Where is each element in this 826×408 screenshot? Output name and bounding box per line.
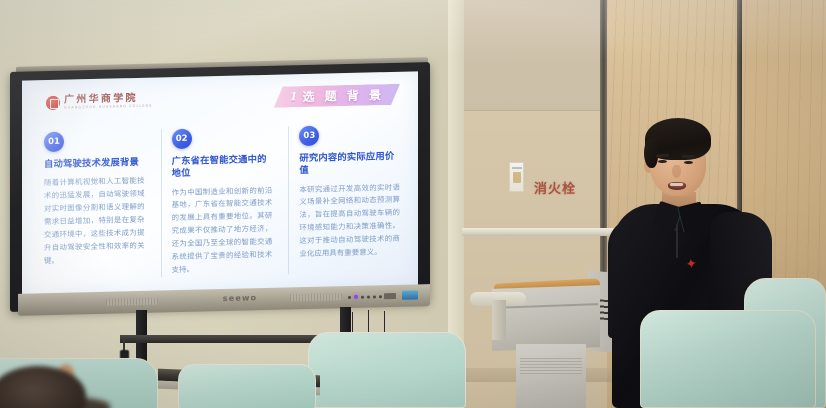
seewo-brand-label: seewo (210, 293, 270, 303)
section-number: 1 (290, 90, 298, 103)
slide-column: 02 广东省在智能交通中的地位 作为中国制造业和创新的前沿基地，广东省在智能交通… (161, 127, 277, 278)
classroom-scene: 消火栓 广州华商学院 GUANGZHOU HUASHANG COLLEGE 1 (0, 0, 826, 408)
slide-columns: 01 自动驾驶技术发展背景 随着计算机视觉和人工智能技术的迅猛发展，自动驾驶领域… (44, 124, 404, 281)
speaker-grille-left (106, 298, 158, 306)
logo-name-en: GUANGZHOU HUASHANG COLLEGE (64, 105, 153, 110)
speaker-grille-right (290, 293, 342, 301)
logo-seal-icon (46, 96, 60, 110)
podium-base (516, 344, 586, 408)
display-screen[interactable]: 广州华商学院 GUANGZHOU HUASHANG COLLEGE 1 选 题 … (22, 71, 418, 296)
fire-safety-sign (509, 162, 524, 192)
slide-column: 03 研究内容的实际应用价值 本研究通过开发高效的实时语义场景补全网络和动态预测… (288, 124, 404, 275)
chair-back (308, 332, 466, 408)
presenter-shirt-placket (676, 224, 678, 258)
presenter-nose (672, 165, 681, 178)
column-badge: 02 (172, 129, 192, 149)
column-badge: 03 (299, 126, 319, 146)
column-title: 研究内容的实际应用价值 (299, 151, 400, 178)
presenter-hair-side (644, 138, 658, 168)
university-logo: 广州华商学院 GUANGZHOU HUASHANG COLLEGE (46, 94, 153, 111)
presenter-teeth (670, 183, 683, 186)
slide-section-banner: 1 选 题 背 景 (274, 84, 400, 108)
section-title: 选 题 背 景 (302, 86, 384, 105)
wall-rail (462, 228, 618, 236)
logo-wordmark: 广州华商学院 GUANGZHOU HUASHANG COLLEGE (64, 94, 153, 110)
usb-port[interactable] (384, 293, 396, 299)
column-title: 自动驾驶技术发展背景 (44, 157, 145, 172)
column-body: 随着计算机视觉和人工智能技术的迅猛发展，自动驾驶领域对实时图像分割和语义理解的需… (44, 175, 145, 268)
display-control-buttons[interactable] (348, 294, 388, 299)
chair-back (640, 310, 816, 408)
hdmi-port[interactable] (402, 290, 418, 299)
control-dot[interactable] (348, 296, 351, 299)
column-body: 作为中国制造业和创新的前沿基地，广东省在智能交通技术的发展上具有重要地位。其研究… (172, 184, 273, 277)
chair-frame (492, 300, 506, 340)
control-dot[interactable] (361, 295, 364, 298)
podium-base-vent (520, 358, 582, 374)
control-dot[interactable] (373, 295, 376, 298)
column-badge: 01 (44, 132, 64, 152)
slide-column: 01 自动驾驶技术发展背景 随着计算机视觉和人工智能技术的迅猛发展，自动驾驶领域… (44, 130, 149, 281)
seewo-interactive-display[interactable]: 广州华商学院 GUANGZHOU HUASHANG COLLEGE 1 选 题 … (10, 67, 430, 315)
column-title: 广东省在智能交通中的地位 (172, 154, 273, 181)
column-body: 本研究通过开发高效的实时语义场景补全网络和动态预测算法，旨在提高自动驾驶车辆的环… (299, 181, 400, 261)
shirt-logo-icon: ✦ (685, 257, 700, 273)
fire-hydrant-label: 消火栓 (534, 178, 576, 197)
power-led-icon (354, 295, 358, 299)
chair-back (178, 364, 316, 408)
control-dot[interactable] (379, 295, 382, 298)
control-dot[interactable] (367, 295, 370, 298)
presentation-slide: 广州华商学院 GUANGZHOU HUASHANG COLLEGE 1 选 题 … (22, 71, 418, 296)
